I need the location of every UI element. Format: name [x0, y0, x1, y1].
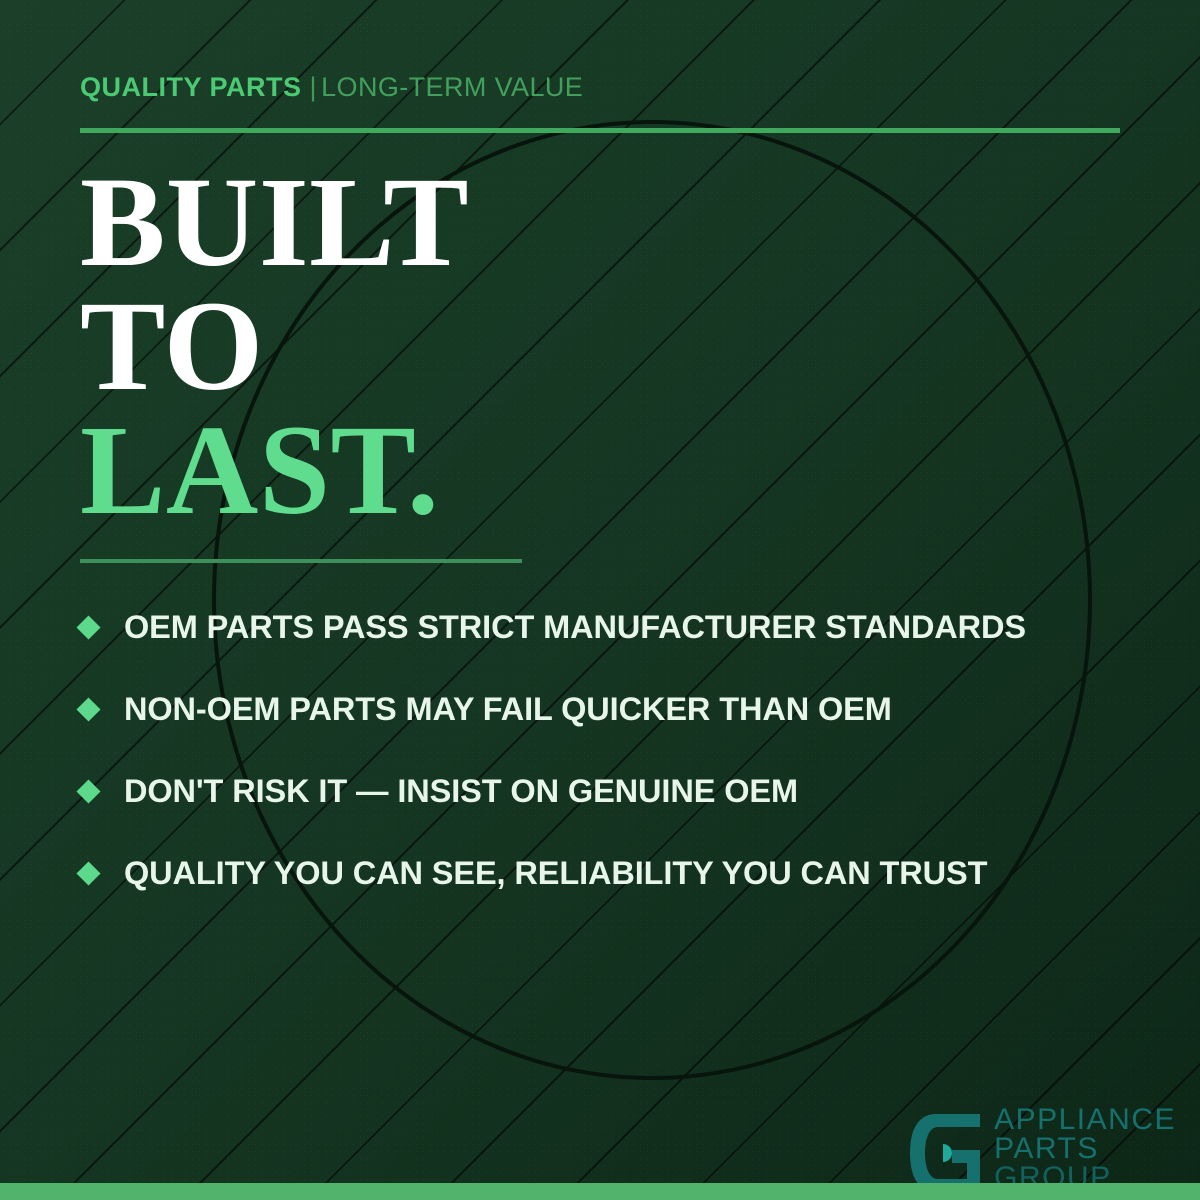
eyebrow-separator: | [310, 72, 318, 102]
header-divider-rule [80, 128, 1120, 133]
logo-word-2: PARTS [994, 1134, 1176, 1163]
logo-word-1: APPLIANCE [994, 1105, 1176, 1134]
diamond-bullet-icon [76, 861, 100, 885]
bottom-accent-bar [0, 1183, 1200, 1200]
headline-line-3: LAST. [80, 408, 469, 532]
eyebrow-line: QUALITY PARTS|LONG-TERM VALUE [80, 74, 583, 101]
list-item: OEM PARTS PASS STRICT MANUFACTURER STAND… [80, 586, 1150, 668]
bullet-text: DON'T RISK IT — INSIST ON GENUINE OEM [124, 775, 798, 808]
diamond-bullet-icon [76, 779, 100, 803]
diamond-bullet-icon [76, 615, 100, 639]
diamond-bullet-icon [76, 697, 100, 721]
eyebrow-sub-text: LONG-TERM VALUE [321, 72, 583, 102]
headline-line-1: BUILT [80, 160, 469, 284]
logo-wordmark: APPLIANCE PARTS GROUP [994, 1105, 1176, 1192]
poster-content: QUALITY PARTS|LONG-TERM VALUE BUILT TO L… [0, 0, 1200, 1200]
bullet-list: OEM PARTS PASS STRICT MANUFACTURER STAND… [80, 586, 1150, 914]
bullet-text: NON-OEM PARTS MAY FAIL QUICKER THAN OEM [124, 693, 892, 726]
list-item: QUALITY YOU CAN SEE, RELIABILITY YOU CAN… [80, 832, 1150, 914]
headline: BUILT TO LAST. [80, 160, 469, 532]
headline-divider-rule [80, 559, 522, 563]
bullet-text: QUALITY YOU CAN SEE, RELIABILITY YOU CAN… [124, 857, 987, 890]
list-item: DON'T RISK IT — INSIST ON GENUINE OEM [80, 750, 1150, 832]
bullet-text: OEM PARTS PASS STRICT MANUFACTURER STAND… [124, 611, 1026, 644]
list-item: NON-OEM PARTS MAY FAIL QUICKER THAN OEM [80, 668, 1150, 750]
eyebrow-strong-text: QUALITY PARTS [80, 72, 302, 102]
headline-line-2: TO [80, 284, 469, 408]
poster-canvas: QUALITY PARTS|LONG-TERM VALUE BUILT TO L… [0, 0, 1200, 1200]
